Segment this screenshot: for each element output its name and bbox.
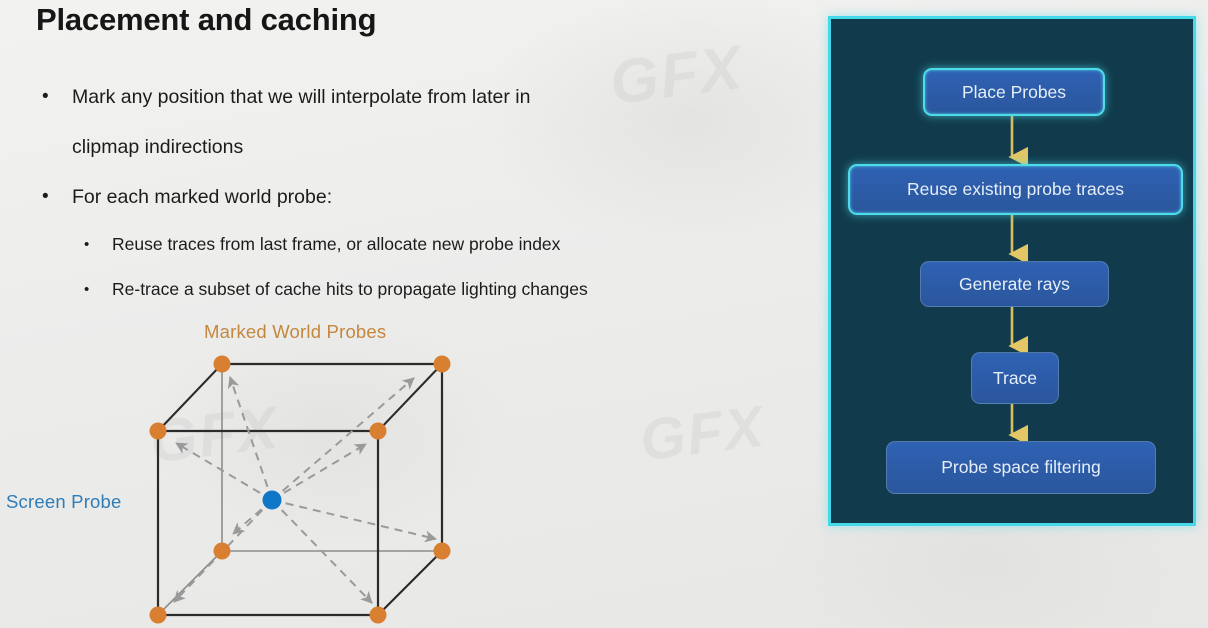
flow-step-probe-space-filtering[interactable]: Probe space filtering <box>886 441 1156 494</box>
flow-step-label: Trace <box>993 368 1037 389</box>
probe-dot <box>434 543 451 560</box>
bullet-list: • Mark any position that we will interpo… <box>36 72 806 312</box>
bullet-marker: • <box>84 222 89 267</box>
flow-step-label: Place Probes <box>962 82 1066 103</box>
cube-front-edges <box>158 431 378 615</box>
bullet-item: clipmap indirections <box>36 122 806 172</box>
probe-dot <box>214 356 231 373</box>
bullet-text: For each marked world probe: <box>72 186 332 208</box>
flow-step-reuse-existing-traces[interactable]: Reuse existing probe traces <box>848 164 1183 215</box>
bullet-marker: • <box>42 72 49 122</box>
pipeline-flowchart-panel: Place Probes Reuse existing probe traces… <box>828 16 1196 526</box>
probe-dot <box>214 543 231 560</box>
cube-connecting-edges <box>158 364 442 615</box>
probe-dot <box>150 607 167 624</box>
probe-dot <box>434 356 451 373</box>
slide-canvas: GFX GFX GFX Placement and caching • Mark… <box>0 0 1208 628</box>
screen-probe-dot <box>263 491 282 510</box>
flow-step-label: Generate rays <box>959 274 1070 295</box>
cube-top-edges <box>222 364 442 551</box>
flow-step-place-probes[interactable]: Place Probes <box>923 68 1105 116</box>
bullet-text: clipmap indirections <box>72 136 243 158</box>
flow-step-label: Probe space filtering <box>941 457 1101 478</box>
marked-world-probe-dots <box>150 356 451 624</box>
bullet-text: Reuse traces from last frame, or allocat… <box>112 234 560 254</box>
probe-dot <box>150 423 167 440</box>
probe-cube-diagram: Marked World Probes Screen Probe <box>0 306 520 628</box>
bullet-text: Mark any position that we will interpola… <box>72 86 530 108</box>
watermark-text: GFX <box>636 393 768 475</box>
flow-step-trace[interactable]: Trace <box>971 352 1059 404</box>
bullet-text: Re-trace a subset of cache hits to propa… <box>112 279 588 299</box>
bullet-item: • Mark any position that we will interpo… <box>36 72 806 122</box>
cube-svg <box>0 306 520 628</box>
probe-dot <box>370 423 387 440</box>
bullet-item: • For each marked world probe: <box>36 172 806 222</box>
probe-dot <box>370 607 387 624</box>
slide-title: Placement and caching <box>36 2 376 38</box>
cube-back-edges <box>158 364 442 615</box>
flow-step-generate-rays[interactable]: Generate rays <box>920 261 1109 307</box>
flow-step-label: Reuse existing probe traces <box>907 179 1124 200</box>
bullet-marker: • <box>42 172 49 222</box>
bullet-item: • Reuse traces from last frame, or alloc… <box>36 222 806 267</box>
